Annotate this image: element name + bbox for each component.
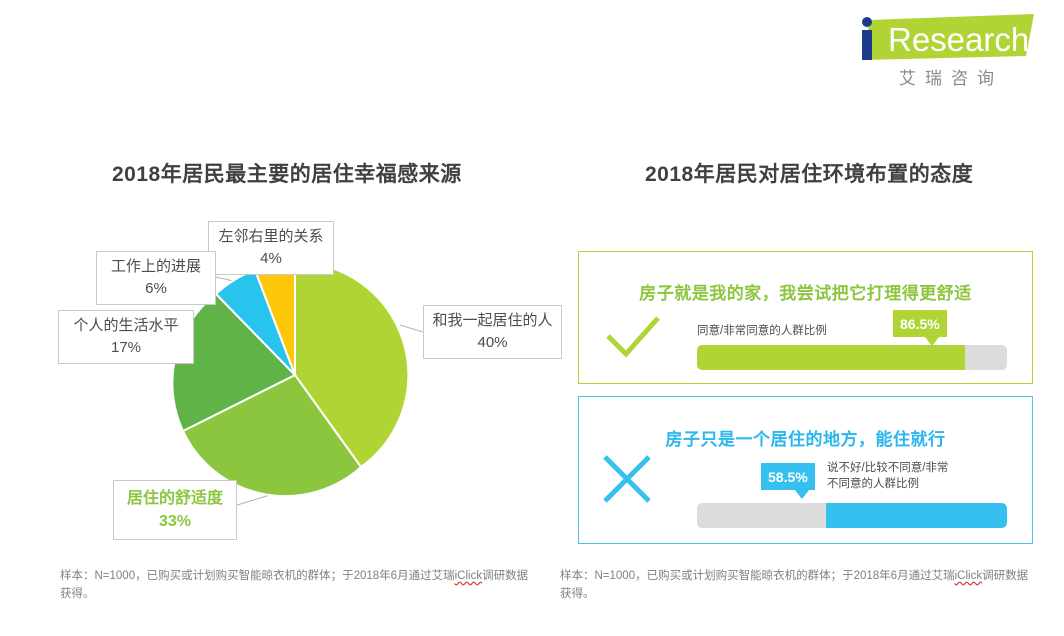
attitude-card-agree-bar-label: 同意/非常同意的人群比例 [697, 324, 827, 340]
attitude-card-agree: 房子就是我的家，我尝试把它打理得更舒适 同意/非常同意的人群比例 86.5% [578, 251, 1033, 384]
pie-label-neighbor-name: 左邻右里的关系 [218, 226, 323, 248]
pie-label-comfort: 居住的舒适度 33% [113, 480, 237, 540]
attitude-card-agree-fill [697, 345, 965, 370]
footnote-left-pre: 样本：N=1000，已购买或计划购买智能晾衣机的群体；于2018年6月通过艾瑞 [60, 570, 455, 582]
attitude-card-agree-track [697, 345, 1007, 370]
attitude-card-disagree-bar-label: 说不好/比较不同意/非常不同意的人群比例 [827, 461, 952, 492]
attitude-card-agree-value-tooltip: 86.5% [893, 310, 947, 337]
svg-text:Research: Research [888, 21, 1029, 58]
left-panel-title: 2018年居民最主要的居住幸福感来源 [112, 158, 462, 188]
pie-label-comfort-name: 居住的舒适度 [127, 487, 223, 510]
cross-mark-icon [601, 453, 653, 505]
pie-label-life: 个人的生活水平 17% [58, 310, 194, 364]
attitude-card-disagree-track [697, 503, 1007, 528]
attitude-card-disagree-fill [826, 503, 1007, 528]
pie-label-comfort-value: 33% [159, 510, 191, 533]
attitude-card-disagree-bar: 说不好/比较不同意/非常不同意的人群比例 58.5% [697, 455, 1007, 533]
attitude-card-disagree-title: 房子只是一个居住的地方，能住就行 [579, 425, 1032, 450]
pie-label-work-name: 工作上的进展 [111, 256, 201, 278]
attitude-card-agree-title: 房子就是我的家，我尝试把它打理得更舒适 [579, 279, 1032, 304]
attitude-card-disagree-value-tooltip: 58.5% [761, 463, 815, 490]
pie-label-neighbor: 左邻右里的关系 4% [208, 221, 334, 275]
footnote-right: 样本：N=1000，已购买或计划购买智能晾衣机的群体；于2018年6月通过艾瑞i… [560, 568, 1030, 604]
logo-subtitle: 艾瑞咨询 [866, 64, 1036, 89]
footnote-left: 样本：N=1000，已购买或计划购买智能晾衣机的群体；于2018年6月通过艾瑞i… [60, 568, 530, 604]
footnote-right-mark: iClick [955, 570, 982, 582]
pie-chart-panel: 左邻右里的关系 4% 工作上的进展 6% 个人的生活水平 17% 和我一起居住的… [40, 205, 560, 550]
slide-root: Research 艾瑞咨询 2018年居民最主要的居住幸福感来源 2018年居民… [0, 0, 1064, 636]
pie-label-work: 工作上的进展 6% [96, 251, 216, 305]
attitude-card-disagree: 房子只是一个居住的地方，能住就行 说不好/比较不同意/非常不同意的人群比例 58… [578, 396, 1033, 544]
pie-label-people-value: 40% [477, 332, 507, 354]
right-panel-title: 2018年居民对居住环境布置的态度 [645, 158, 973, 188]
pie-label-people: 和我一起居住的人 40% [423, 305, 562, 359]
pie-label-work-value: 6% [145, 278, 167, 300]
pie-label-life-value: 17% [111, 337, 141, 359]
iresearch-logo: Research 艾瑞咨询 [848, 8, 1038, 96]
footnote-left-mark: iClick [455, 570, 482, 582]
logo-mark-icon: Research [848, 8, 1038, 66]
pie-label-people-name: 和我一起居住的人 [432, 310, 552, 332]
pie-label-life-name: 个人的生活水平 [73, 315, 178, 337]
footnote-right-pre: 样本：N=1000，已购买或计划购买智能晾衣机的群体；于2018年6月通过艾瑞 [560, 570, 955, 582]
check-mark-icon [605, 314, 661, 360]
pie-label-neighbor-value: 4% [260, 248, 282, 270]
attitude-card-agree-bar: 同意/非常同意的人群比例 86.5% [697, 308, 1007, 370]
